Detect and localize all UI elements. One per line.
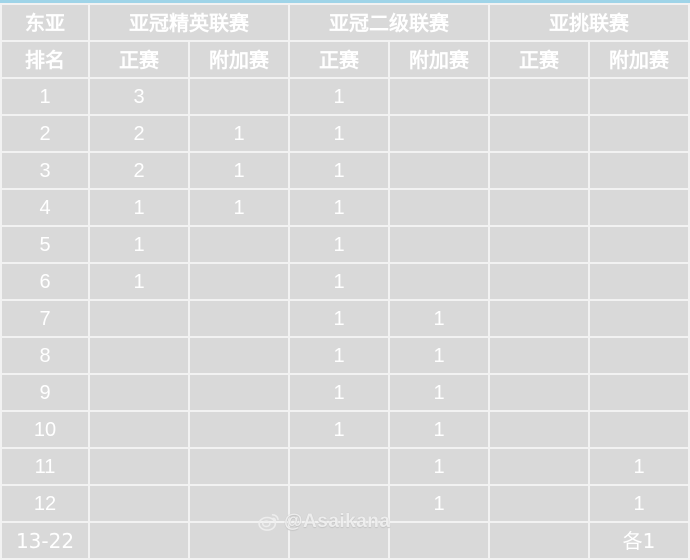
data-cell: [590, 79, 688, 114]
rank-cell: 1: [2, 79, 88, 114]
data-cell: [390, 79, 488, 114]
data-cell: [490, 190, 588, 225]
rank-cell: 6: [2, 264, 88, 299]
standings-table-image: 东亚 亚冠精英联赛 亚冠二级联赛 亚挑联赛 排名 正赛 附加赛 正赛 附加赛 正…: [0, 0, 690, 541]
data-cell: 1: [190, 116, 288, 151]
rank-cell: 11: [2, 449, 88, 484]
data-cell: 2: [90, 153, 188, 188]
data-cell: 1: [290, 264, 388, 299]
table-row: 611: [2, 264, 688, 299]
data-cell: [590, 153, 688, 188]
data-cell: [390, 153, 488, 188]
rank-column-header: 排名: [2, 42, 88, 77]
region-label: 东亚: [2, 5, 88, 40]
data-cell: [490, 153, 588, 188]
rank-cell: 9: [2, 375, 88, 410]
data-cell: 1: [90, 227, 188, 262]
data-cell: 1: [590, 486, 688, 521]
rank-cell: 10: [2, 412, 88, 447]
data-cell: [390, 190, 488, 225]
data-cell: 1: [590, 449, 688, 484]
data-cell: [390, 227, 488, 262]
data-cell: [190, 375, 288, 410]
data-cell: 1: [290, 190, 388, 225]
table-row: 131: [2, 79, 688, 114]
data-cell: [590, 116, 688, 151]
subheader-acl-two-group: 正赛: [290, 42, 388, 77]
subheader-acl-elite-group: 正赛: [90, 42, 188, 77]
rank-cell: 8: [2, 338, 88, 373]
table-row: 2211: [2, 116, 688, 151]
table-body: 东亚 亚冠精英联赛 亚冠二级联赛 亚挑联赛 排名 正赛 附加赛 正赛 附加赛 正…: [2, 5, 688, 558]
data-cell: 1: [390, 412, 488, 447]
data-cell: [190, 486, 288, 521]
data-cell: 1: [190, 153, 288, 188]
table-row: 711: [2, 301, 688, 336]
table-header-row-competitions: 东亚 亚冠精英联赛 亚冠二级联赛 亚挑联赛: [2, 5, 688, 40]
data-cell: 1: [290, 79, 388, 114]
data-cell: [190, 264, 288, 299]
data-cell: [190, 412, 288, 447]
data-cell: 1: [290, 227, 388, 262]
qualification-slots-table: 东亚 亚冠精英联赛 亚冠二级联赛 亚挑联赛 排名 正赛 附加赛 正赛 附加赛 正…: [0, 3, 690, 560]
data-cell: 1: [190, 190, 288, 225]
data-cell: [490, 486, 588, 521]
subheader-acl-two-playoff: 附加赛: [390, 42, 488, 77]
data-cell: [490, 116, 588, 151]
data-cell: [190, 79, 288, 114]
data-cell: [190, 227, 288, 262]
table-row: 811: [2, 338, 688, 373]
data-cell: 1: [290, 301, 388, 336]
data-cell: [490, 338, 588, 373]
data-cell: [590, 264, 688, 299]
data-cell: 1: [290, 153, 388, 188]
data-cell: [490, 449, 588, 484]
data-cell: [90, 338, 188, 373]
data-cell: [90, 412, 188, 447]
data-cell: 1: [290, 375, 388, 410]
rank-cell: 3: [2, 153, 88, 188]
rank-cell: 7: [2, 301, 88, 336]
data-cell: [90, 486, 188, 521]
table-row: 511: [2, 227, 688, 262]
table-header-row-subcolumns: 排名 正赛 附加赛 正赛 附加赛 正赛 附加赛: [2, 42, 688, 77]
data-cell: [290, 449, 388, 484]
data-cell: 3: [90, 79, 188, 114]
rank-cell: 12: [2, 486, 88, 521]
data-cell: [90, 301, 188, 336]
data-cell: [390, 264, 488, 299]
data-cell: 1: [390, 375, 488, 410]
data-cell: 1: [290, 116, 388, 151]
data-cell: [90, 375, 188, 410]
data-cell: 1: [390, 449, 488, 484]
data-cell: [290, 486, 388, 521]
data-cell: 1: [290, 412, 388, 447]
competition-header-ac-challenge: 亚挑联赛: [490, 5, 688, 40]
table-row: 1111: [2, 449, 688, 484]
data-cell: [490, 301, 588, 336]
data-cell: [590, 301, 688, 336]
data-cell: [590, 227, 688, 262]
table-row: 4111: [2, 190, 688, 225]
subheader-acl-elite-playoff: 附加赛: [190, 42, 288, 77]
rank-cell: 4: [2, 190, 88, 225]
data-cell: [490, 79, 588, 114]
data-cell: 1: [290, 338, 388, 373]
competition-header-acl-two: 亚冠二级联赛: [290, 5, 488, 40]
table-row: 911: [2, 375, 688, 410]
data-cell: [490, 227, 588, 262]
data-cell: [590, 375, 688, 410]
data-cell: 1: [90, 190, 188, 225]
data-cell: [190, 449, 288, 484]
subheader-ac-challenge-group: 正赛: [490, 42, 588, 77]
data-cell: [190, 338, 288, 373]
data-cell: 1: [390, 301, 488, 336]
table-row: 3211: [2, 153, 688, 188]
data-cell: [590, 190, 688, 225]
data-cell: 1: [390, 338, 488, 373]
data-cell: 1: [90, 264, 188, 299]
data-cell: [490, 264, 588, 299]
data-cell: 2: [90, 116, 188, 151]
data-cell: [390, 116, 488, 151]
data-cell: [90, 449, 188, 484]
table-row: 1211: [2, 486, 688, 521]
rank-cell: 5: [2, 227, 88, 262]
data-cell: [590, 338, 688, 373]
subheader-ac-challenge-playoff: 附加赛: [590, 42, 688, 77]
data-cell: [190, 301, 288, 336]
data-cell: 1: [390, 486, 488, 521]
data-cell: [490, 412, 588, 447]
rank-cell: 2: [2, 116, 88, 151]
data-cell: [590, 412, 688, 447]
data-cell: [490, 375, 588, 410]
table-row: 1011: [2, 412, 688, 447]
competition-header-acl-elite: 亚冠精英联赛: [90, 5, 288, 40]
